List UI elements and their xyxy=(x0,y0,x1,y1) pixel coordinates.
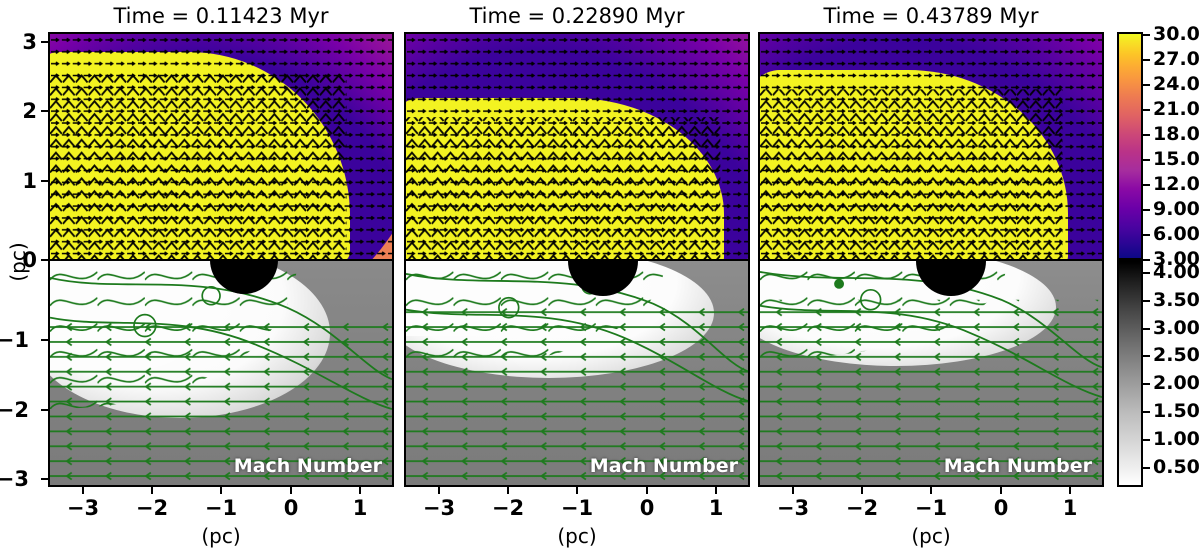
yticklabel-1: 2 xyxy=(0,99,37,123)
cbtick-top-0 xyxy=(1143,34,1150,36)
cbtick-top-9 xyxy=(1143,259,1150,261)
xticklabel-2-0: −3 xyxy=(416,496,462,520)
xtick-1-2 xyxy=(220,487,222,494)
cbtick-bot-1 xyxy=(1143,300,1150,302)
panel-overlay-label-2: Mach Number xyxy=(590,455,738,477)
cbtick-top-1 xyxy=(1143,59,1150,61)
dense-interior-extra-1 xyxy=(50,126,336,260)
cbtick-top-6 xyxy=(1143,184,1150,186)
cbtick-top-3 xyxy=(1143,109,1150,111)
cblabel-top-3: 21.00 xyxy=(1153,98,1200,120)
midplane-divider-3 xyxy=(760,259,1102,261)
ytick-2 xyxy=(41,180,48,182)
xtick-2-3 xyxy=(646,487,648,494)
xticklabel-1-1: −2 xyxy=(129,496,175,520)
cbtick-bot-7 xyxy=(1143,467,1150,469)
cblabel-bot-6: 1.00 xyxy=(1153,428,1200,450)
xticklabel-2-2: −1 xyxy=(554,496,600,520)
xtick-1-3 xyxy=(290,487,292,494)
cbtick-bot-4 xyxy=(1143,383,1150,385)
xtick-3-3 xyxy=(1000,487,1002,494)
cblabel-top-6: 12.00 xyxy=(1153,173,1200,195)
panel-overlay-label-1: Mach Number xyxy=(234,455,382,477)
panel-title-1: Time = 0.11423 Myr xyxy=(48,2,394,30)
cbtick-top-8 xyxy=(1143,234,1150,236)
xtick-3-4 xyxy=(1069,487,1071,494)
cblabel-top-5: 15.00 xyxy=(1153,148,1200,170)
ytick-0 xyxy=(41,41,48,43)
cblabel-bot-0: 4.00 xyxy=(1153,261,1200,283)
ytick-5 xyxy=(41,409,48,411)
cbtick-bot-3 xyxy=(1143,355,1150,357)
panel-axes-3[interactable]: Mach Number xyxy=(758,32,1104,487)
ytick-3 xyxy=(41,259,48,261)
cblabel-bot-7: 0.50 xyxy=(1153,456,1200,478)
cbtick-top-7 xyxy=(1143,209,1150,211)
dense-interior-extra-3 xyxy=(760,138,1048,260)
xaxis-label-2: (pc) xyxy=(517,524,637,548)
lower-field-3 xyxy=(760,260,1102,486)
xtick-1-0 xyxy=(82,487,84,494)
xticklabel-2-3: 0 xyxy=(624,496,670,520)
yticklabel-4: −1 xyxy=(0,328,29,352)
panel-title-3: Time = 0.43789 Myr xyxy=(758,2,1104,30)
cblabel-top-0: 30.00 xyxy=(1153,23,1200,45)
yticklabel-2: 1 xyxy=(0,169,37,193)
yticklabel-0: 3 xyxy=(0,30,37,54)
xticklabel-3-1: −2 xyxy=(839,496,885,520)
yticklabel-5: −2 xyxy=(0,398,29,422)
cblabel-bot-3: 2.50 xyxy=(1153,344,1200,366)
xticklabel-1-0: −3 xyxy=(60,496,106,520)
cbtick-bot-5 xyxy=(1143,411,1150,413)
ytick-6 xyxy=(41,478,48,480)
xticklabel-2-1: −2 xyxy=(485,496,531,520)
cbtick-top-4 xyxy=(1143,134,1150,136)
xaxis-label-3: (pc) xyxy=(871,524,991,548)
xtick-3-1 xyxy=(861,487,863,494)
cbtick-bot-6 xyxy=(1143,439,1150,441)
xticklabel-3-3: 0 xyxy=(978,496,1024,520)
xticklabel-2-4: 1 xyxy=(693,496,739,520)
xticklabel-1-3: 0 xyxy=(268,496,314,520)
panel-axes-1[interactable]: Mach Number xyxy=(48,32,394,487)
xtick-1-4 xyxy=(359,487,361,494)
cblabel-top-8: 6.00 xyxy=(1153,223,1200,245)
xtick-3-2 xyxy=(930,487,932,494)
dense-interior-extra-2 xyxy=(406,154,706,260)
xtick-1-1 xyxy=(151,487,153,494)
yticklabel-6: −3 xyxy=(0,467,29,491)
ytick-4 xyxy=(41,339,48,341)
cbtick-bot-0 xyxy=(1143,272,1150,274)
cblabel-top-1: 27.00 xyxy=(1153,48,1200,70)
upper-colorbar[interactable] xyxy=(1117,32,1143,260)
cbtick-top-2 xyxy=(1143,84,1150,86)
upper-field-1 xyxy=(50,34,392,260)
xticklabel-1-4: 1 xyxy=(337,496,383,520)
xtick-2-1 xyxy=(507,487,509,494)
lower-field-2 xyxy=(406,260,748,486)
xticklabel-1-2: −1 xyxy=(198,496,244,520)
figure-canvas: Time = 0.11423 Myr xyxy=(0,0,1200,553)
cbtick-top-5 xyxy=(1143,159,1150,161)
yaxis-label: (pc) xyxy=(6,232,30,292)
cblabel-bot-2: 3.00 xyxy=(1153,317,1200,339)
xtick-2-4 xyxy=(715,487,717,494)
cblabel-top-4: 18.00 xyxy=(1153,123,1200,145)
midplane-divider-1 xyxy=(50,259,392,261)
xtick-2-0 xyxy=(438,487,440,494)
upper-field-3 xyxy=(760,34,1102,260)
cblabel-top-2: 24.00 xyxy=(1153,73,1200,95)
midplane-divider-2 xyxy=(406,259,748,261)
lower-colorbar[interactable] xyxy=(1117,260,1143,487)
cblabel-bot-5: 1.50 xyxy=(1153,400,1200,422)
cblabel-top-7: 9.00 xyxy=(1153,198,1200,220)
xticklabel-3-2: −1 xyxy=(908,496,954,520)
upper-field-2 xyxy=(406,34,748,260)
cblabel-bot-1: 3.50 xyxy=(1153,289,1200,311)
panel-axes-2[interactable]: Mach Number xyxy=(404,32,750,487)
cblabel-bot-4: 2.00 xyxy=(1153,372,1200,394)
xtick-2-2 xyxy=(576,487,578,494)
ytick-1 xyxy=(41,110,48,112)
xaxis-label-1: (pc) xyxy=(161,524,281,548)
xticklabel-3-4: 1 xyxy=(1047,496,1093,520)
panel-overlay-label-3: Mach Number xyxy=(944,455,1092,477)
xticklabel-3-0: −3 xyxy=(770,496,816,520)
cbtick-bot-2 xyxy=(1143,328,1150,330)
xtick-3-0 xyxy=(792,487,794,494)
panel-title-2: Time = 0.22890 Myr xyxy=(404,2,750,30)
lower-field-1 xyxy=(50,260,392,486)
